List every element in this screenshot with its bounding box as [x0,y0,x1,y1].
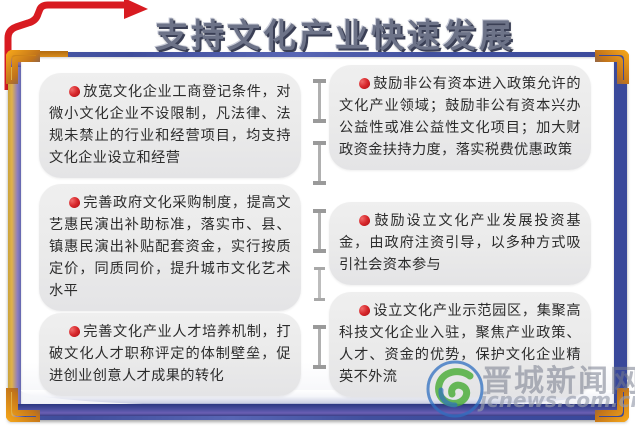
red-square-bullet-icon [358,214,371,227]
policy-text: 鼓励设立文化产业发展投资基金，由政府注资引导，以多种方式吸引社会资本参与 [339,210,581,276]
red-square-bullet-icon [68,85,81,98]
i-beam-ornament-icon [311,209,328,253]
content-area: 放宽文化企业工商登记条件，对微小文化企业不设限制，凡法律、法规未禁止的行业和经营… [21,57,614,404]
i-beam-ornament-icon [311,267,328,301]
policy-card: 鼓励设立文化产业发展投资基金，由政府注资引导，以多种方式吸引社会资本参与 [329,202,591,285]
i-beam-ornament-icon [311,79,328,123]
policy-card: 设立文化产业示范园区，集聚高科技文化企业入驻，聚焦产业政策、人才、资金的优势，保… [329,292,591,397]
policy-card: 完善政府文化采购制度，提高文艺惠民演出补助标准，落实市、县、镇惠民演出补贴配套资… [39,184,301,311]
red-square-bullet-icon [358,77,371,90]
book-spine-bottom [14,404,621,416]
policy-text: 完善文化产业人才培养机制，打破文化人才职称评定的体制壁垒，促进创业创意人才成果的… [49,321,291,387]
i-beam-ornament-icon [311,325,328,369]
policy-text: 鼓励非公有资本进入政策允许的文化产业领域；鼓励非公有资本兴办公益性或准公益性文化… [339,73,581,161]
poster-canvas: 支持文化产业快速发展 [0,0,635,428]
red-square-bullet-icon [68,325,81,338]
policy-card: 鼓励非公有资本进入政策允许的文化产业领域；鼓励非公有资本兴办公益性或准公益性文化… [329,65,591,170]
red-square-bullet-icon [68,196,81,209]
policy-card: 完善文化产业人才培养机制，打破文化人才职称评定的体制壁垒，促进创业创意人才成果的… [39,313,301,396]
policy-text: 设立文化产业示范园区，集聚高科技文化企业入驻，聚焦产业政策、人才、资金的优势，保… [339,300,581,388]
i-beam-ornament-icon [311,141,328,185]
policy-card: 放宽文化企业工商登记条件，对微小文化企业不设限制，凡法律、法规未禁止的行业和经营… [39,73,301,178]
book-frame: 放宽文化企业工商登记条件，对微小文化企业不设限制，凡法律、法规未禁止的行业和经营… [8,52,627,420]
red-square-bullet-icon [358,304,371,317]
policy-text: 完善政府文化采购制度，提高文艺惠民演出补助标准，落实市、县、镇惠民演出补贴配套资… [49,192,291,302]
policy-text: 放宽文化企业工商登记条件，对微小文化企业不设限制，凡法律、法规未禁止的行业和经营… [49,81,291,169]
